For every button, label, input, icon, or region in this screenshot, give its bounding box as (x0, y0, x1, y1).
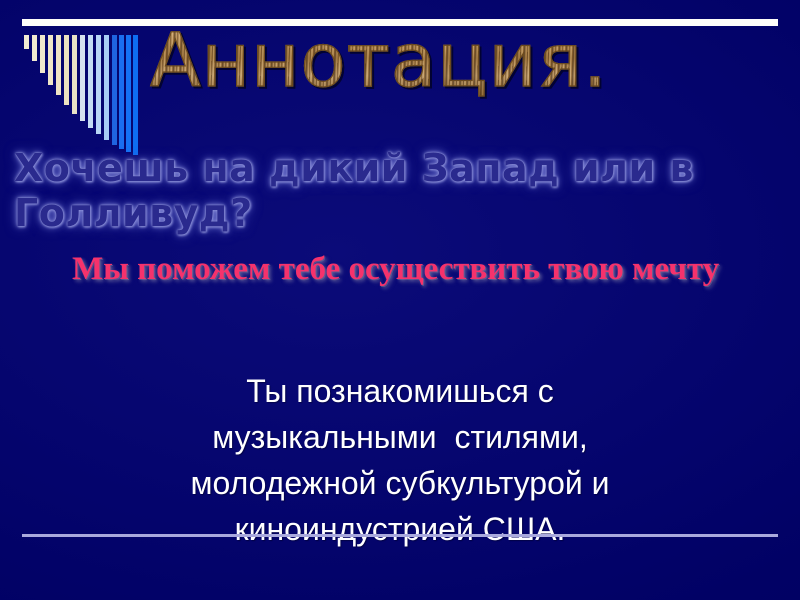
slide-title: Аннотация. (150, 24, 608, 98)
decoration-bar (119, 35, 124, 149)
decoration-bar (72, 35, 77, 114)
body-text-line: музыкальными стилями, (62, 414, 738, 460)
decoration-bar (104, 35, 109, 140)
decoration-bar (32, 35, 37, 61)
decoration-bar (88, 35, 93, 128)
body-text-line: молодежной субкультурой и (62, 460, 738, 506)
decoration-bar (80, 35, 85, 121)
decoration-bar (56, 35, 61, 95)
decoration-bar (96, 35, 101, 134)
presentation-slide: Аннотация. Хочешь на дикий Запад или в Г… (0, 0, 800, 600)
decoration-bar (24, 35, 29, 49)
decoration-bar (40, 35, 45, 73)
decoration-bar (48, 35, 53, 85)
staircase-bars-decoration (24, 35, 154, 155)
decoration-bar (133, 35, 138, 155)
body-text-line: киноиндустрией США. (62, 506, 738, 552)
slide-title-container: Аннотация. (150, 8, 770, 113)
decoration-bar (64, 35, 69, 105)
body-text-line: Ты познакомишься с (62, 368, 738, 414)
slide-subtitle: Хочешь на дикий Запад или в Голливуд? (14, 146, 786, 236)
decoration-bar (112, 35, 117, 145)
decoration-bar (126, 35, 131, 152)
bottom-horizontal-rule (22, 534, 778, 537)
slide-tagline: Мы поможем тебе осуществить твою мечту (72, 248, 772, 290)
slide-body-text: Ты познакомишься смузыкальными стилями,м… (62, 368, 738, 552)
